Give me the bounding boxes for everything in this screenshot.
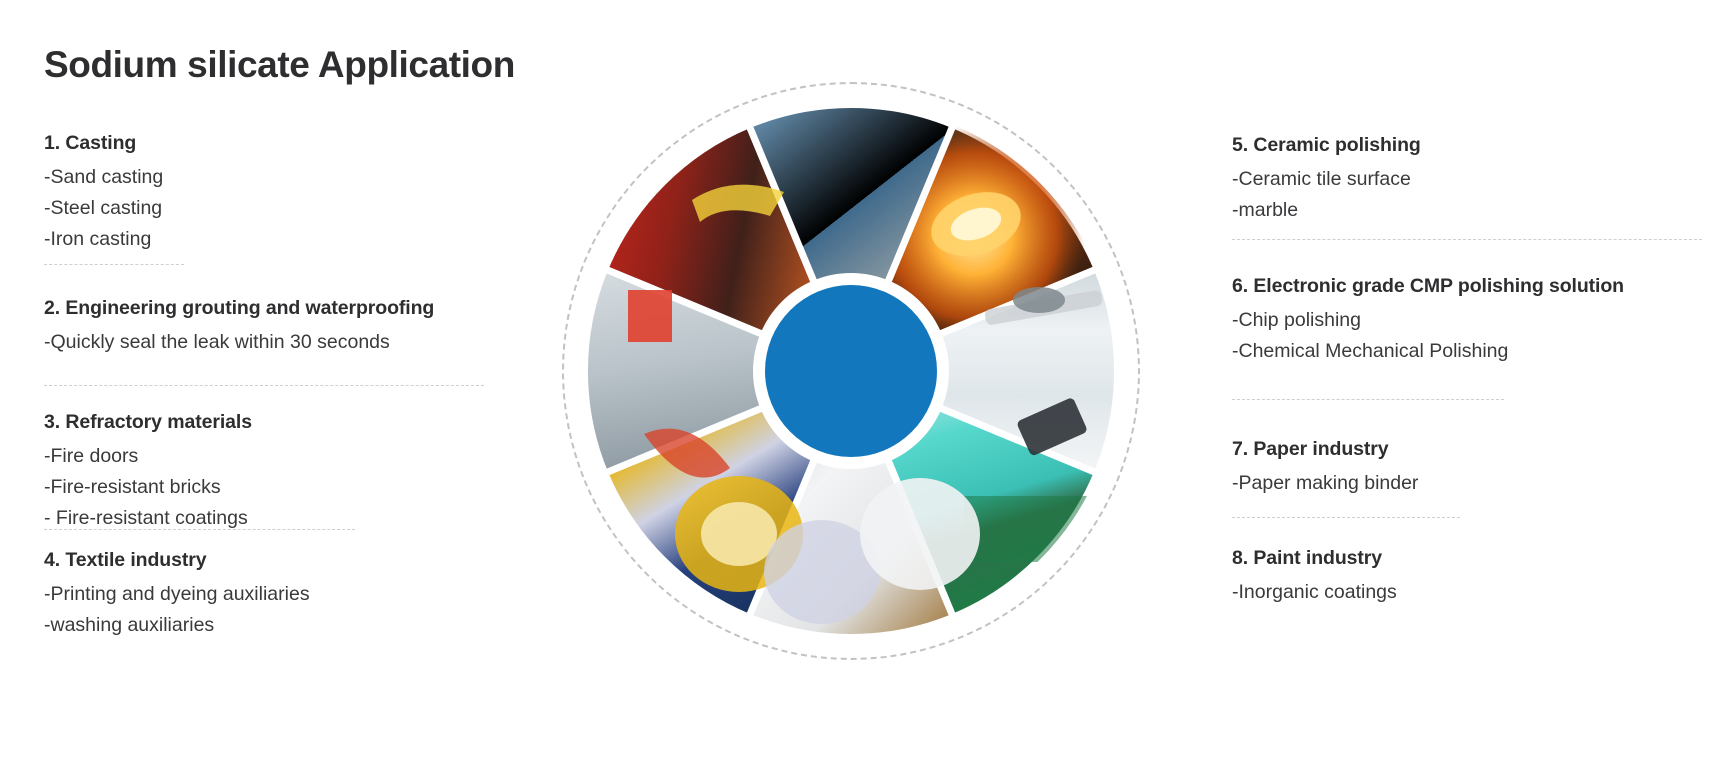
section-heading: 2. Engineering grouting and waterproofin…	[44, 297, 434, 320]
section-item: -washing auxiliaries	[44, 610, 310, 641]
application-section-5: 5. Ceramic polishing -Ceramic tile surfa…	[1232, 134, 1421, 226]
application-section-3: 3. Refractory materials -Fire doors -Fir…	[44, 411, 252, 534]
application-section-4: 4. Textile industry -Printing and dyeing…	[44, 549, 310, 641]
section-divider	[1232, 399, 1504, 400]
application-section-7: 7. Paper industry -Paper making binder	[1232, 438, 1418, 499]
section-heading: 1. Casting	[44, 132, 163, 155]
page-title: Sodium silicate Application	[44, 44, 515, 86]
section-item: -Fire doors	[44, 441, 252, 472]
section-item: -Inorganic coatings	[1232, 577, 1397, 608]
section-item: -marble	[1232, 195, 1421, 226]
section-item: -Chemical Mechanical Polishing	[1232, 336, 1624, 367]
section-divider	[1232, 517, 1460, 518]
wheel-photo-segments	[584, 104, 1118, 638]
section-heading: 6. Electronic grade CMP polishing soluti…	[1232, 275, 1624, 298]
section-divider	[44, 385, 484, 386]
application-section-8: 8. Paint industry -Inorganic coatings	[1232, 547, 1397, 608]
section-heading: 3. Refractory materials	[44, 411, 252, 434]
section-item: -Quickly seal the leak within 30 seconds	[44, 327, 434, 358]
section-item: -Iron casting	[44, 224, 163, 255]
section-heading: 5. Ceramic polishing	[1232, 134, 1421, 157]
section-item: -Chip polishing	[1232, 305, 1624, 336]
section-divider	[44, 529, 355, 530]
section-item: -Sand casting	[44, 162, 163, 193]
section-item: -Paper making binder	[1232, 468, 1418, 499]
section-divider	[1232, 239, 1702, 240]
section-item: -Fire-resistant bricks	[44, 472, 252, 503]
section-heading: 4. Textile industry	[44, 549, 310, 572]
wheel-hub-core	[765, 285, 937, 457]
section-heading: 8. Paint industry	[1232, 547, 1397, 570]
section-divider	[44, 264, 184, 265]
application-section-2: 2. Engineering grouting and waterproofin…	[44, 297, 434, 358]
section-item: -Ceramic tile surface	[1232, 164, 1421, 195]
section-item: -Printing and dyeing auxiliaries	[44, 579, 310, 610]
application-section-1: 1. Casting -Sand casting -Steel casting …	[44, 132, 163, 255]
section-heading: 7. Paper industry	[1232, 438, 1418, 461]
section-item: -Steel casting	[44, 193, 163, 224]
application-section-6: 6. Electronic grade CMP polishing soluti…	[1232, 275, 1624, 367]
application-wheel	[562, 82, 1140, 660]
